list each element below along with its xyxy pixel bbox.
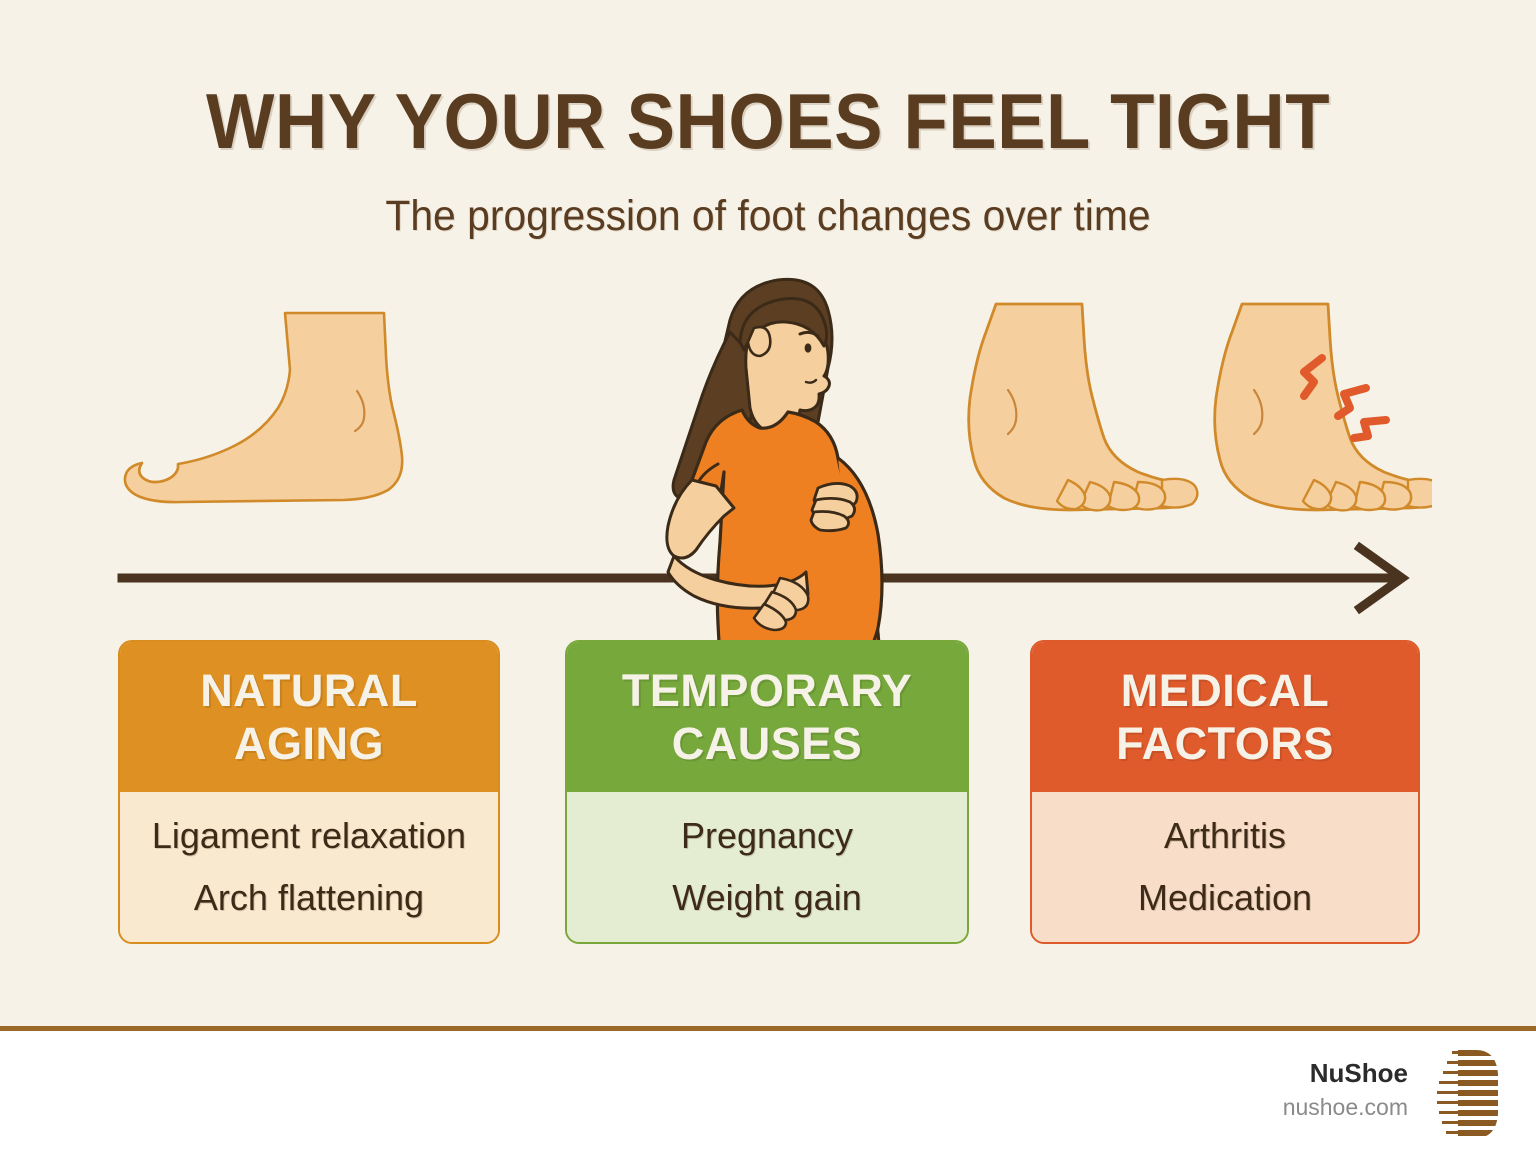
foot-normal [969, 304, 1198, 510]
card-title-line-2: CAUSES [622, 717, 912, 770]
card-title-line-2: AGING [200, 717, 418, 770]
brand-url[interactable]: nushoe.com [1283, 1092, 1408, 1122]
card-temporary-causes-body: Pregnancy Weight gain [567, 792, 967, 942]
card-item: Arch flattening [194, 877, 424, 919]
card-title-line-1: NATURAL [200, 664, 418, 717]
card-item: Pregnancy [681, 815, 853, 857]
card-item: Ligament relaxation [152, 815, 466, 857]
card-natural-aging-body: Ligament relaxation Arch flattening [120, 792, 498, 942]
card-title-line-1: TEMPORARY [622, 664, 912, 717]
card-medical-factors-header: MEDICAL FACTORS [1032, 642, 1418, 792]
foot-pair-with-pain-illustration [952, 292, 1432, 554]
card-natural-aging[interactable]: NATURAL AGING Ligament relaxation Arch f… [118, 640, 500, 944]
infographic-poster: WHY YOUR SHOES FEEL TIGHT The progressio… [0, 0, 1536, 1154]
pregnant-woman-illustration [612, 272, 902, 662]
nushoe-striped-shoe-logo-icon [1436, 1048, 1500, 1140]
brand-name: NuShoe [1283, 1058, 1408, 1088]
card-item: Weight gain [672, 877, 861, 919]
page-subtitle: The progression of foot changes over tim… [38, 192, 1497, 241]
card-medical-factors-body: Arthritis Medication [1032, 792, 1418, 942]
card-natural-aging-header: NATURAL AGING [120, 642, 498, 792]
foot-side-profile-illustration [112, 296, 432, 536]
card-temporary-causes-header: TEMPORARY CAUSES [567, 642, 967, 792]
brand-block: NuShoe nushoe.com [1283, 1058, 1408, 1122]
card-title-line-1: MEDICAL [1116, 664, 1334, 717]
card-temporary-causes[interactable]: TEMPORARY CAUSES Pregnancy Weight gain [565, 640, 969, 944]
card-medical-factors[interactable]: MEDICAL FACTORS Arthritis Medication [1030, 640, 1420, 944]
card-item: Arthritis [1164, 815, 1286, 857]
card-item: Medication [1138, 877, 1312, 919]
card-title-line-2: FACTORS [1116, 717, 1334, 770]
foot-painful [1215, 304, 1432, 510]
page-title: WHY YOUR SHOES FEEL TIGHT [54, 76, 1482, 167]
